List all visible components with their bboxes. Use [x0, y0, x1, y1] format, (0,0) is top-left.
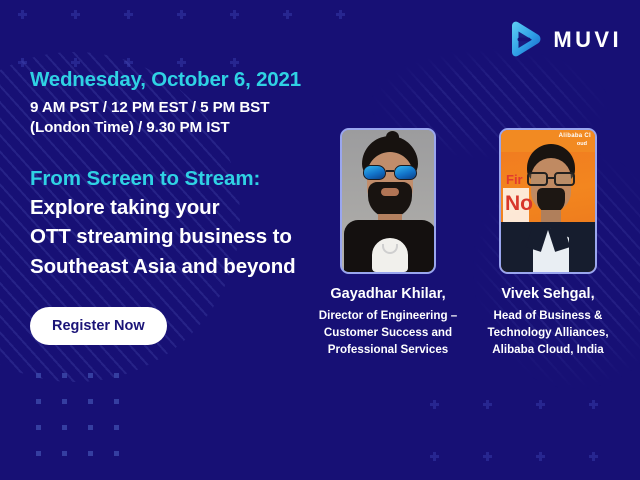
plus-icon	[124, 58, 133, 67]
dot	[114, 373, 119, 378]
plus-icon	[430, 452, 439, 461]
plus-icon	[18, 10, 27, 19]
plus-icon	[483, 452, 492, 461]
plus-icon	[536, 400, 545, 409]
backdrop-text-no: No	[505, 192, 533, 216]
plus-icon	[230, 58, 239, 67]
headline-accent-line: From Screen to Stream:	[30, 164, 330, 193]
dot	[114, 399, 119, 404]
headline-line-4: Southeast Asia and beyond	[30, 252, 330, 281]
dot	[36, 425, 41, 430]
dot	[62, 373, 67, 378]
speaker-title-line-1: Head of Business &	[478, 308, 618, 325]
backdrop-text-alibaba-cloud: Alibaba Cl	[559, 133, 591, 139]
plus-icon	[283, 10, 292, 19]
muvi-logo[interactable]: MUVI	[508, 20, 622, 60]
event-time-line-1: 9 AM PST / 12 PM EST / 5 PM BST	[30, 98, 330, 118]
plus-pattern-row	[18, 58, 239, 67]
headline-line-2: Explore taking your	[30, 193, 330, 222]
muvi-wordmark: MUVI	[553, 27, 622, 53]
left-content-column: Wednesday, October 6, 2021 9 AM PST / 12…	[30, 68, 330, 345]
plus-pattern-row	[430, 400, 640, 409]
webinar-promo-banner: MUVI Wednesday, October 6, 2021 9 AM PST…	[0, 0, 640, 480]
register-now-button[interactable]: Register Now	[30, 307, 167, 345]
eyeglasses-icon	[527, 172, 575, 186]
event-date: Wednesday, October 6, 2021	[30, 68, 330, 92]
event-time-line-2: (London Time) / 9.30 PM IST	[30, 118, 330, 138]
dot	[114, 425, 119, 430]
dot	[114, 451, 119, 456]
dot	[62, 451, 67, 456]
speaker-card-gayadhar-khilar: Gayadhar Khilar, Director of Engineering…	[318, 128, 458, 359]
portrait-illustration	[342, 130, 434, 272]
dot	[88, 399, 93, 404]
event-times: 9 AM PST / 12 PM EST / 5 PM BST (London …	[30, 98, 330, 138]
speaker-title: Director of Engineering – Customer Succe…	[318, 308, 458, 358]
headline: From Screen to Stream: Explore taking yo…	[30, 164, 330, 280]
plus-icon	[177, 58, 186, 67]
speaker-card-vivek-sehgal: Fir No Alibaba Cl oud	[478, 128, 618, 359]
plus-icon	[230, 10, 239, 19]
speaker-title-line-3: Professional Services	[318, 342, 458, 359]
plus-icon	[71, 10, 80, 19]
dot-grid-decoration	[36, 373, 119, 456]
plus-icon	[430, 400, 439, 409]
backdrop-text-fi: Fir	[506, 172, 523, 187]
speaker-title: Head of Business & Technology Alliances,…	[478, 308, 618, 358]
plus-icon	[124, 10, 133, 19]
plus-icon	[336, 10, 345, 19]
dot	[36, 451, 41, 456]
dot	[88, 373, 93, 378]
dot	[88, 425, 93, 430]
portrait-illustration: Fir No Alibaba Cl oud	[501, 130, 595, 272]
dot	[88, 451, 93, 456]
speaker-title-line-1: Director of Engineering –	[318, 308, 458, 325]
dot	[36, 399, 41, 404]
dot	[62, 399, 67, 404]
plus-icon	[177, 10, 186, 19]
speaker-title-line-2: Customer Success and	[318, 325, 458, 342]
speakers-section: Gayadhar Khilar, Director of Engineering…	[318, 128, 618, 359]
headline-line-3: OTT streaming business to	[30, 222, 330, 251]
muvi-play-logo-icon	[508, 20, 542, 60]
plus-pattern-row	[18, 10, 345, 19]
dot	[36, 373, 41, 378]
plus-icon	[536, 452, 545, 461]
plus-icon	[589, 452, 598, 461]
speaker-photo-vivek-sehgal: Fir No Alibaba Cl oud	[499, 128, 597, 274]
dot	[62, 425, 67, 430]
speaker-photo-gayadhar-khilar	[340, 128, 436, 274]
plus-icon	[71, 58, 80, 67]
speaker-title-line-3: Alibaba Cloud, India	[478, 342, 618, 359]
speaker-name: Vivek Sehgal,	[478, 286, 618, 303]
speaker-title-line-2: Technology Alliances,	[478, 325, 618, 342]
speaker-name: Gayadhar Khilar,	[318, 286, 458, 303]
sunglasses-icon	[363, 165, 417, 180]
plus-icon	[18, 58, 27, 67]
plus-pattern-row	[430, 452, 640, 461]
backdrop-text-alibaba-cloud-2: oud	[577, 141, 587, 147]
plus-icon	[483, 400, 492, 409]
plus-icon	[589, 400, 598, 409]
